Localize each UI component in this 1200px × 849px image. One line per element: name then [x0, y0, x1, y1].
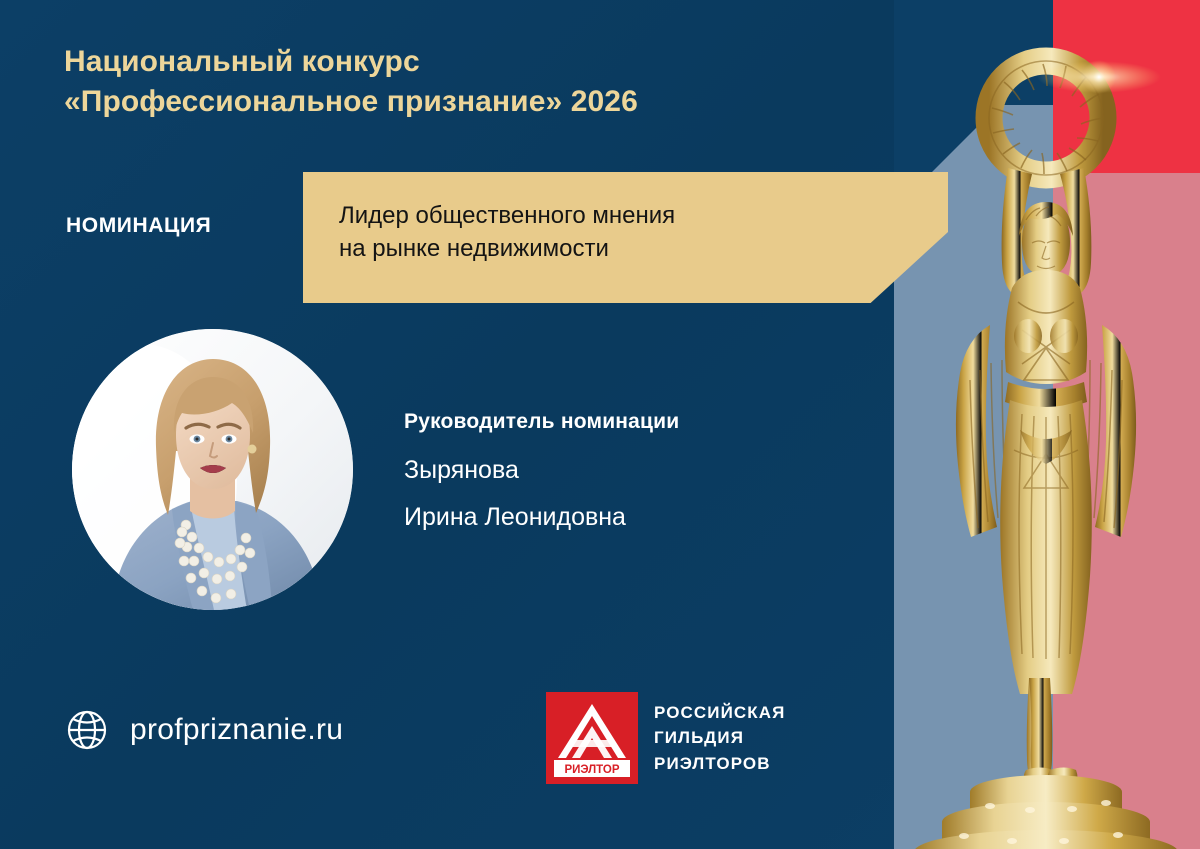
portrait-photo — [72, 329, 353, 610]
background-pink-block — [1053, 173, 1200, 849]
person-role: Руководитель номинации — [404, 410, 824, 434]
background-red-block — [1053, 0, 1200, 173]
rgr-logo: РИЭЛТОР РОССИЙСКАЯ ГИЛЬДИЯ РИЭЛТОРОВ — [546, 692, 785, 784]
person-first-patronymic: Ирина Леонидовна — [404, 503, 824, 532]
person-last-name: Зырянова — [404, 456, 824, 485]
rgr-organization-name: РОССИЙСКАЯ ГИЛЬДИЯ РИЭЛТОРОВ — [654, 700, 785, 777]
nomination-head-info: Руководитель номинации Зырянова Ирина Ле… — [404, 410, 824, 532]
page-title: Национальный конкурс «Профессиональное п… — [64, 42, 844, 122]
globe-icon — [66, 709, 108, 751]
website-link[interactable]: profpriznanie.ru — [66, 709, 343, 751]
rgr-logo-mark: РИЭЛТОР — [546, 692, 638, 784]
nomination-text: Лидер общественного мнения на рынке недв… — [339, 200, 859, 265]
nomination-banner: Лидер общественного мнения на рынке недв… — [303, 172, 948, 303]
poster: Национальный конкурс «Профессиональное п… — [0, 0, 1200, 849]
rgr-mark-text: РИЭЛТОР — [564, 764, 619, 776]
nomination-label: НОМИНАЦИЯ — [66, 214, 211, 238]
website-url: profpriznanie.ru — [130, 713, 343, 747]
